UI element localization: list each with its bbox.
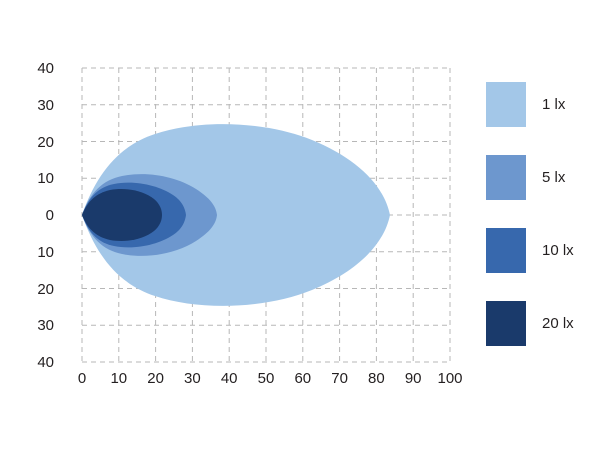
y-tick-label: 0 bbox=[20, 208, 54, 223]
x-tick-label: 90 bbox=[395, 371, 431, 386]
x-tick-label: 70 bbox=[322, 371, 358, 386]
legend-label-1lx: 1 lx bbox=[542, 96, 565, 113]
x-tick-label: 60 bbox=[285, 371, 321, 386]
y-tick-label: 20 bbox=[20, 135, 54, 150]
y-tick-label: 20 bbox=[20, 282, 54, 297]
legend-label-10lx: 10 lx bbox=[542, 242, 574, 259]
legend-item-5lx[interactable]: 5 lx bbox=[486, 153, 604, 201]
chart-plot-area: 40 30 20 10 0 10 20 30 40 0 10 20 30 40 … bbox=[0, 0, 470, 450]
legend-label-5lx: 5 lx bbox=[542, 169, 565, 186]
legend-swatch-20lx bbox=[486, 301, 526, 346]
x-tick-label: 40 bbox=[211, 371, 247, 386]
legend-item-10lx[interactable]: 10 lx bbox=[486, 226, 604, 274]
y-tick-label: 30 bbox=[20, 318, 54, 333]
chart-legend: 1 lx 5 lx 10 lx 20 lx bbox=[486, 80, 604, 372]
legend-swatch-5lx bbox=[486, 155, 526, 200]
x-tick-label: 20 bbox=[138, 371, 174, 386]
isolux-chart-page: 40 30 20 10 0 10 20 30 40 0 10 20 30 40 … bbox=[0, 0, 610, 450]
legend-swatch-10lx bbox=[486, 228, 526, 273]
y-tick-label: 10 bbox=[20, 245, 54, 260]
legend-label-20lx: 20 lx bbox=[542, 315, 574, 332]
x-tick-label: 10 bbox=[101, 371, 137, 386]
legend-item-20lx[interactable]: 20 lx bbox=[486, 299, 604, 347]
x-tick-label: 30 bbox=[174, 371, 210, 386]
legend-swatch-1lx bbox=[486, 82, 526, 127]
x-tick-label: 100 bbox=[432, 371, 468, 386]
x-tick-label: 0 bbox=[64, 371, 100, 386]
y-tick-label: 40 bbox=[20, 355, 54, 370]
y-tick-label: 10 bbox=[20, 171, 54, 186]
x-tick-label: 50 bbox=[248, 371, 284, 386]
y-tick-label: 40 bbox=[20, 61, 54, 76]
x-tick-label: 80 bbox=[358, 371, 394, 386]
y-tick-label: 30 bbox=[20, 98, 54, 113]
legend-item-1lx[interactable]: 1 lx bbox=[486, 80, 604, 128]
